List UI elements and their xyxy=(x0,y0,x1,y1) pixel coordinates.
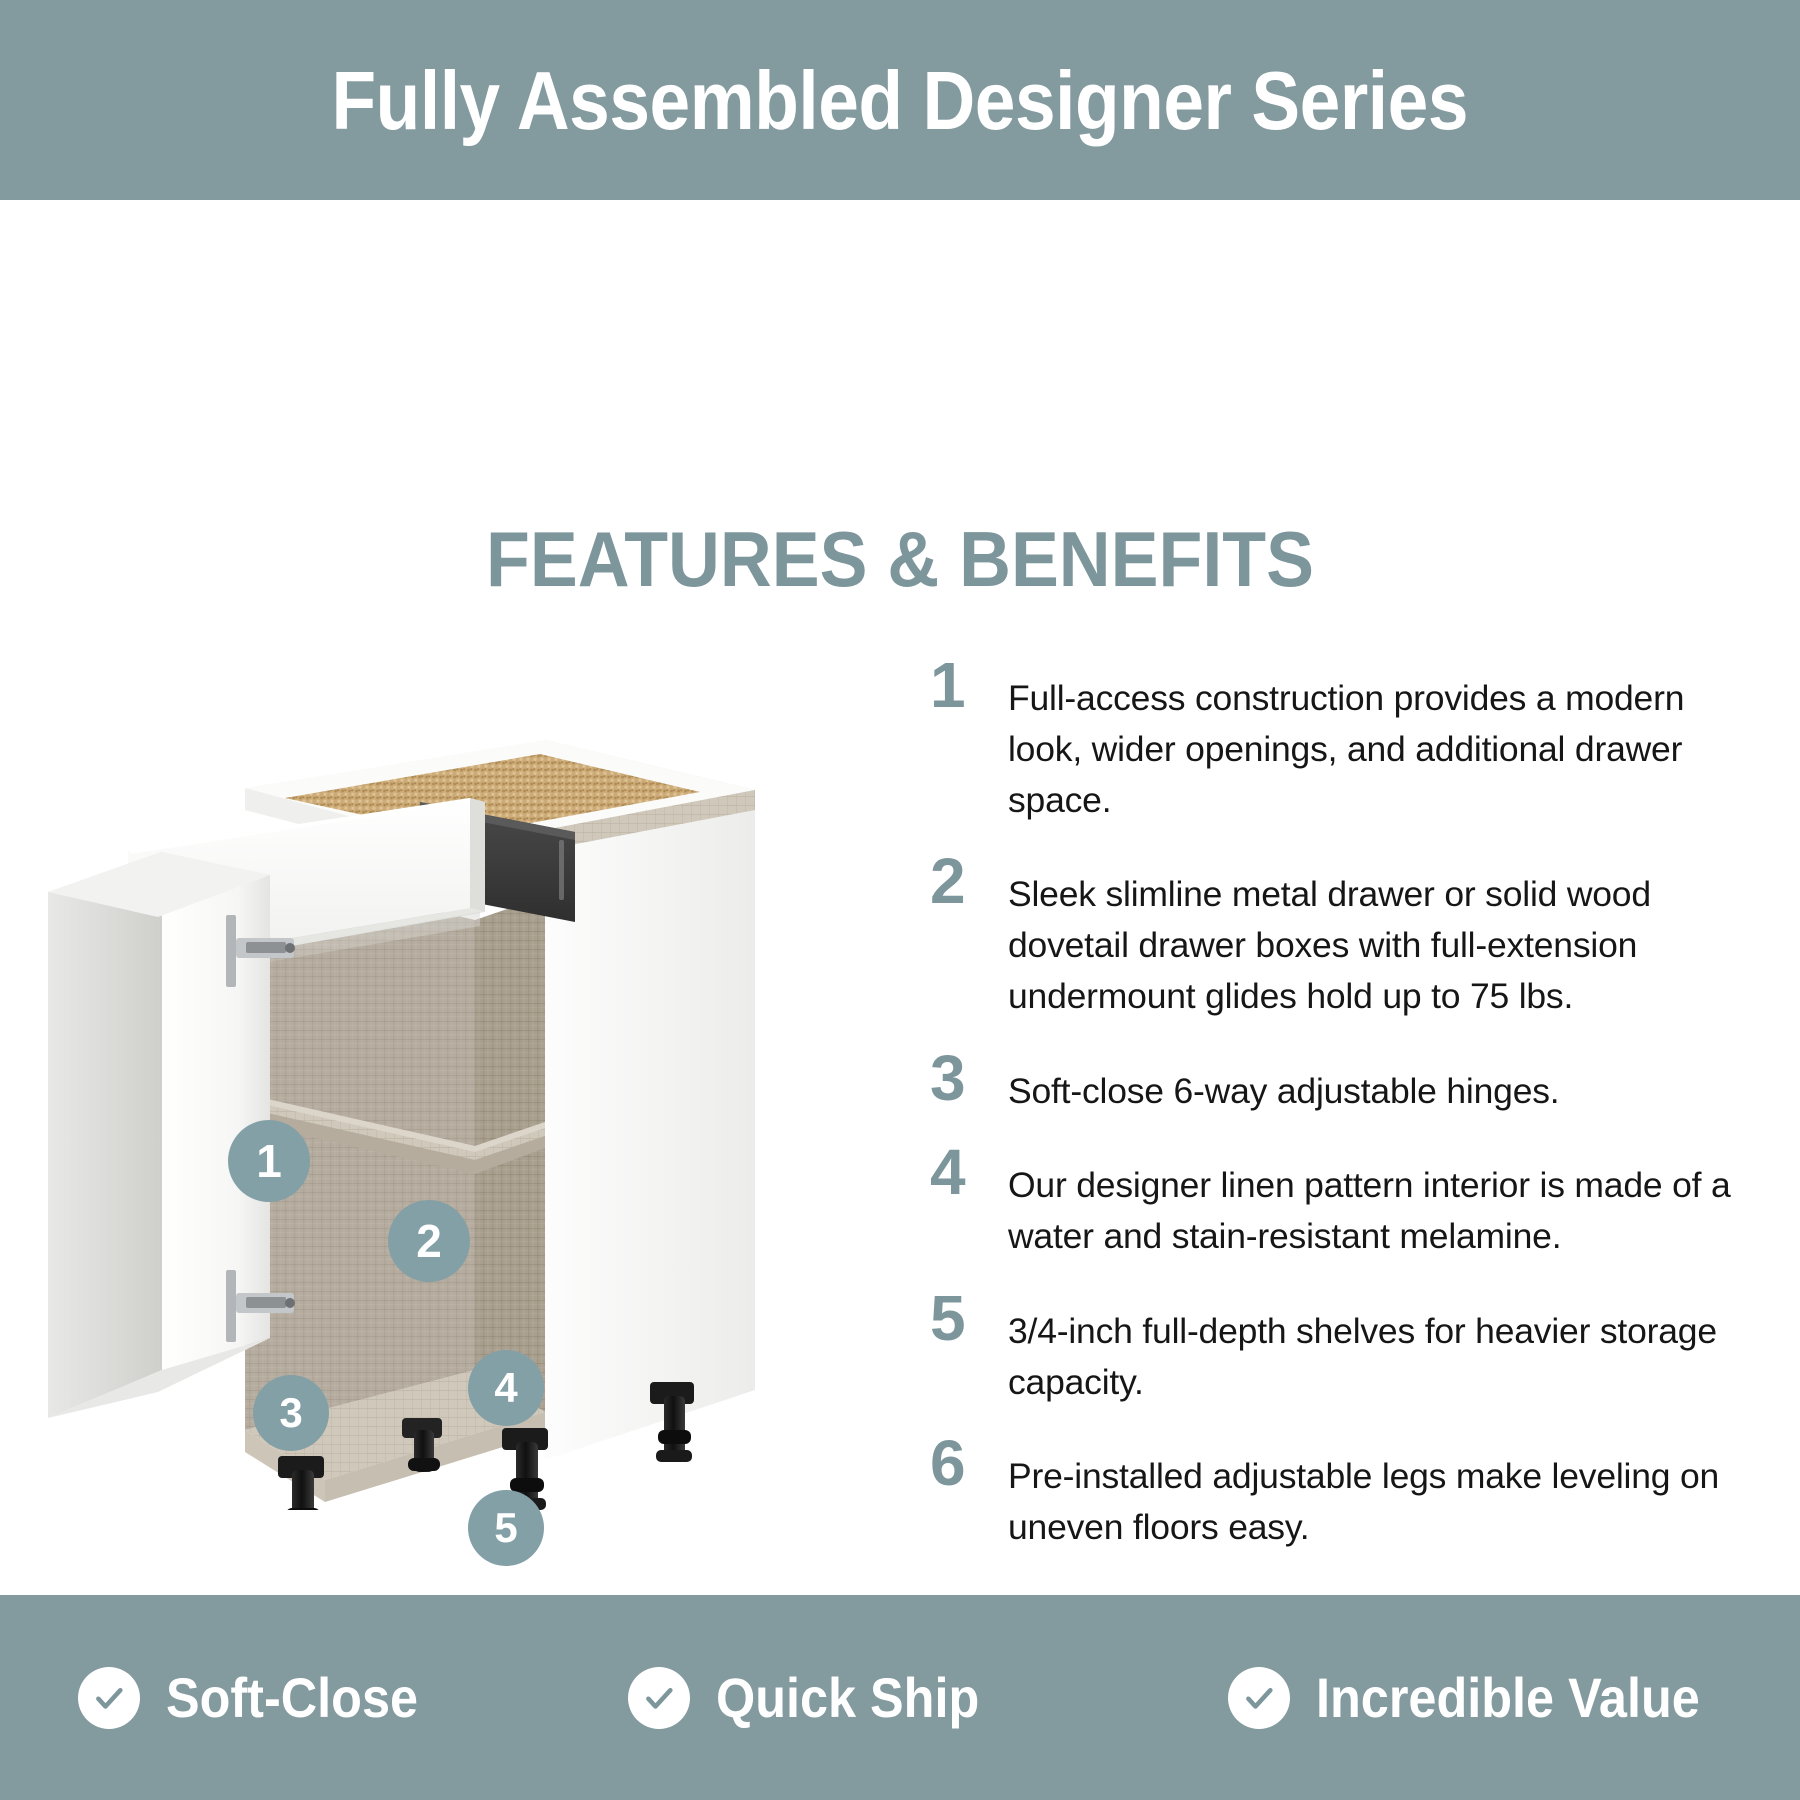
check-circle-icon xyxy=(628,1667,690,1729)
badge-soft-close: Soft-Close xyxy=(0,1667,600,1729)
feature-item-5: 5 3/4-inch full-depth shelves for heavie… xyxy=(930,1288,1750,1408)
feature-number-4: 4 xyxy=(930,1142,1008,1203)
page-title: Fully Assembled Designer Series xyxy=(332,59,1469,142)
callout-2[interactable]: 2 xyxy=(388,1200,470,1282)
badge-label-quick-ship: Quick Ship xyxy=(716,1670,979,1726)
callout-5[interactable]: 5 xyxy=(468,1490,544,1566)
badge-quick-ship: Quick Ship xyxy=(600,1667,1200,1729)
feature-number-6: 6 xyxy=(930,1433,1008,1494)
feature-text-4: Our designer linen pattern interior is m… xyxy=(1008,1142,1750,1262)
feature-item-6: 6 Pre-installed adjustable legs make lev… xyxy=(930,1433,1750,1553)
feature-text-1: Full-access construction provides a mode… xyxy=(1008,655,1750,825)
section-heading: FEATURES & BENEFITS xyxy=(72,520,1728,598)
check-circle-icon xyxy=(1228,1667,1290,1729)
cabinet-right-side xyxy=(545,740,755,1460)
feature-number-2: 2 xyxy=(930,851,1008,912)
feature-number-3: 3 xyxy=(930,1048,1008,1109)
callout-1[interactable]: 1 xyxy=(228,1120,310,1202)
product-illustration: 1 2 3 4 5 6 xyxy=(40,670,840,1510)
infographic-page: Fully Assembled Designer Series FEATURES… xyxy=(0,0,1800,1800)
header-bar: Fully Assembled Designer Series xyxy=(0,0,1800,200)
feature-text-6: Pre-installed adjustable legs make level… xyxy=(1008,1433,1750,1553)
cabinet-diagram xyxy=(40,670,840,1510)
feature-number-1: 1 xyxy=(930,655,1008,716)
callout-3[interactable]: 3 xyxy=(253,1375,329,1451)
feature-item-2: 2 Sleek slimline metal drawer or solid w… xyxy=(930,851,1750,1021)
badge-label-incredible-value: Incredible Value xyxy=(1316,1670,1700,1726)
feature-number-5: 5 xyxy=(930,1288,1008,1349)
badge-incredible-value: Incredible Value xyxy=(1200,1667,1800,1729)
feature-text-5: 3/4-inch full-depth shelves for heavier … xyxy=(1008,1288,1750,1408)
feature-item-3: 3 Soft-close 6-way adjustable hinges. xyxy=(930,1048,1750,1117)
feature-list: 1 Full-access construction provides a mo… xyxy=(930,655,1750,1579)
check-circle-icon xyxy=(78,1667,140,1729)
main-content: FEATURES & BENEFITS xyxy=(0,200,1800,1595)
feature-text-2: Sleek slimline metal drawer or solid woo… xyxy=(1008,851,1750,1021)
feature-item-1: 1 Full-access construction provides a mo… xyxy=(930,655,1750,825)
badge-label-soft-close: Soft-Close xyxy=(166,1670,418,1726)
feature-item-4: 4 Our designer linen pattern interior is… xyxy=(930,1142,1750,1262)
feature-text-3: Soft-close 6-way adjustable hinges. xyxy=(1008,1048,1750,1117)
callout-4[interactable]: 4 xyxy=(468,1350,544,1426)
footer-bar: Soft-Close Quick Ship Incredible Value xyxy=(0,1595,1800,1800)
